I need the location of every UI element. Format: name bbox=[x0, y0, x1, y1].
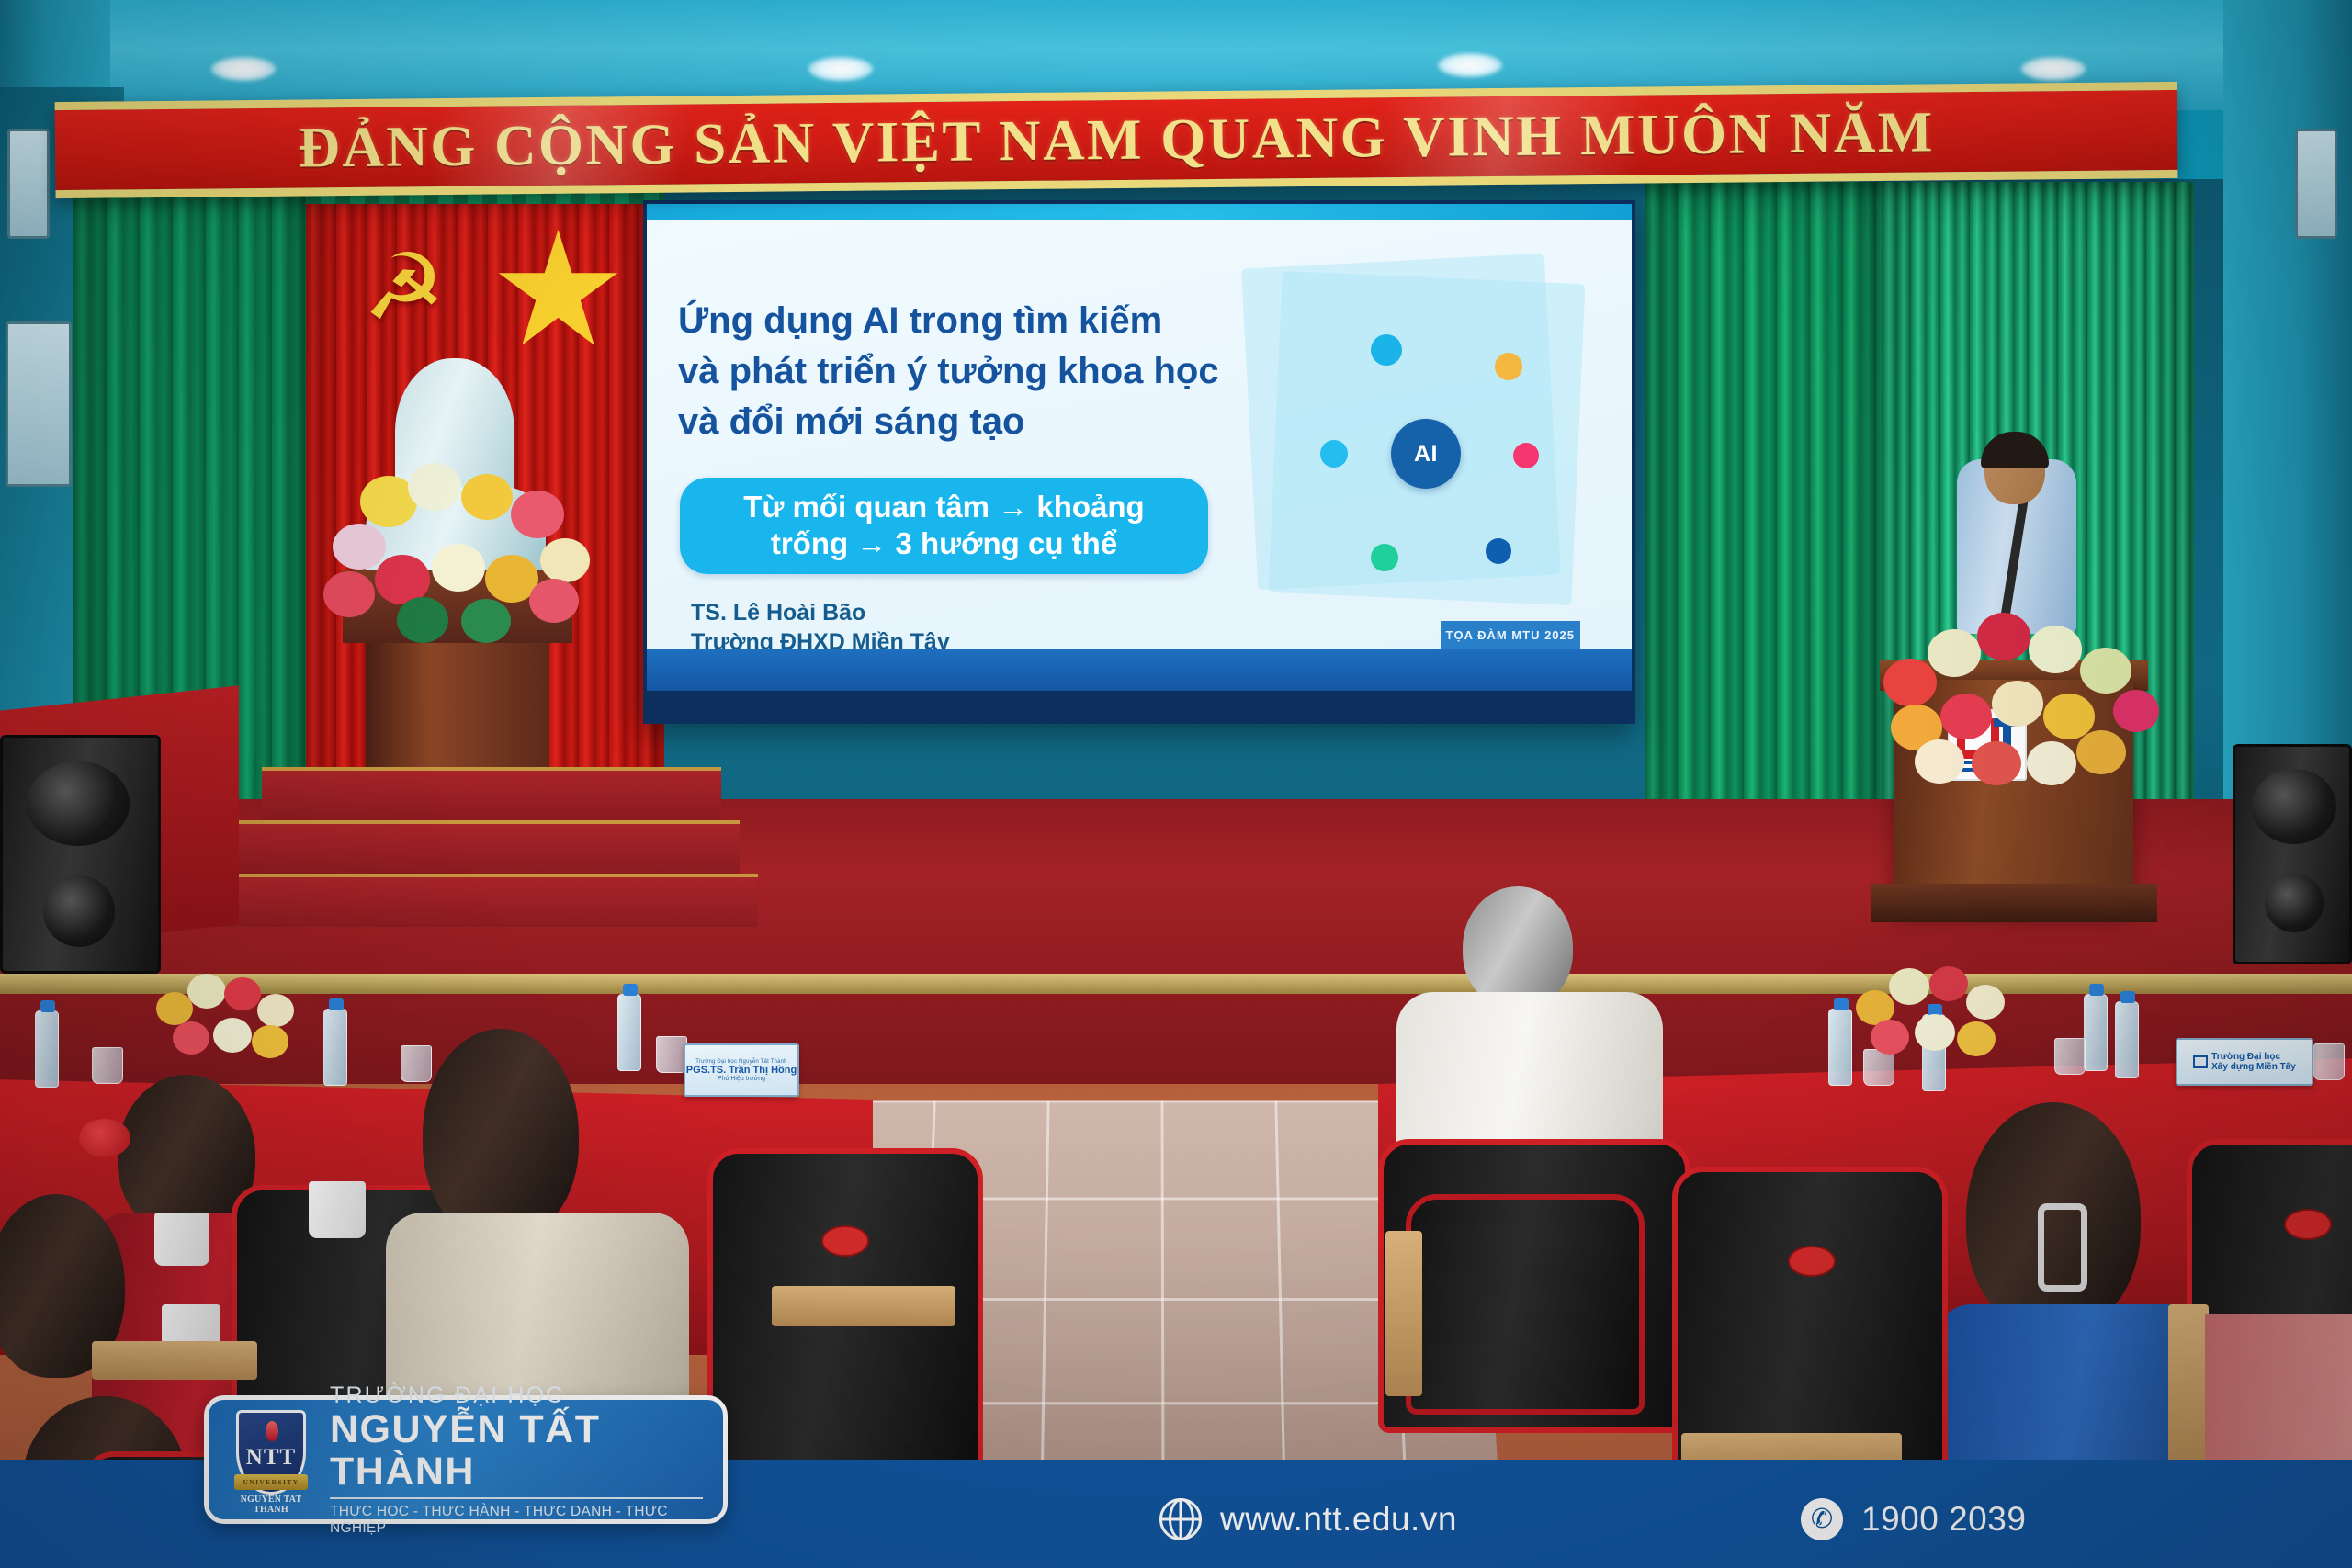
ai-network-graphic: AI bbox=[1233, 252, 1600, 619]
slide-pill-line-1: Từ mối quan tâm → khoảng bbox=[689, 489, 1199, 525]
ai-dot-blue bbox=[1486, 538, 1511, 564]
nameplate-org-line-1: Trường Đại học bbox=[2211, 1052, 2296, 1062]
ntt-shield-icon: NTT UNIVERSITY NGUYEN TAT THANH bbox=[229, 1408, 313, 1511]
pa-speaker-right bbox=[2233, 744, 2352, 964]
chair-armrest bbox=[2168, 1304, 2209, 1470]
table-flowers-right bbox=[1856, 964, 2021, 1075]
phone-icon: ✆ bbox=[1801, 1498, 1843, 1540]
flower-arrangement-podium bbox=[1883, 602, 2159, 785]
audience-chair bbox=[1406, 1194, 1645, 1415]
brand-line-1: TRƯỜNG ĐẠI HỌC bbox=[330, 1382, 703, 1409]
hammer-sickle-icon: ☭ bbox=[354, 237, 455, 338]
slide-highlight-pill: Từ mối quan tâm → khoảng trống → 3 hướng… bbox=[680, 478, 1208, 574]
drinking-glass bbox=[2313, 1043, 2345, 1080]
shield-letters: NTT bbox=[229, 1445, 313, 1471]
nameplate-tran-thi-hong: Trường Đại học Nguyễn Tất Thành PGS.TS. … bbox=[684, 1043, 799, 1097]
slide-bottom-bar bbox=[647, 649, 1632, 691]
drinking-glass bbox=[92, 1047, 123, 1084]
water-bottle bbox=[2084, 994, 2108, 1071]
hair-clip bbox=[2038, 1203, 2087, 1292]
flower-arrangement-bust bbox=[323, 459, 599, 643]
chair-armrest bbox=[92, 1341, 257, 1380]
conference-hall-photo: ☭ Ứng dụng AI trong tìm kiếm và phát tri… bbox=[0, 0, 2352, 1568]
nameplate-mtu: Trường Đại học Xây dựng Miền Tây bbox=[2176, 1038, 2313, 1086]
ceiling-light bbox=[808, 57, 873, 81]
nameplate-role: Phó Hiệu trưởng bbox=[718, 1076, 765, 1082]
ceiling-light bbox=[211, 57, 276, 81]
hair-accessory bbox=[79, 1119, 130, 1157]
footer-hotline[interactable]: ✆ 1900 2039 bbox=[1801, 1498, 2026, 1540]
drinking-glass bbox=[2054, 1038, 2086, 1075]
wall-vent bbox=[2295, 129, 2337, 239]
ai-dot-cyan-top bbox=[1371, 334, 1402, 366]
drinking-glass bbox=[401, 1045, 432, 1082]
brand-divider bbox=[330, 1497, 703, 1499]
audience-head bbox=[423, 1029, 579, 1240]
paper-cup bbox=[309, 1181, 366, 1238]
slogan-banner: ĐẢNG CỘNG SẢN VIỆT NAM QUANG VINH MUÔN N… bbox=[55, 82, 2178, 198]
slogan-banner-text: ĐẢNG CỘNG SẢN VIỆT NAM QUANG VINH MUÔN N… bbox=[55, 90, 2178, 190]
university-logo-text: TRƯỜNG ĐẠI HỌC NGUYỄN TẤT THÀNH THỰC HỌC… bbox=[330, 1382, 703, 1536]
ai-dot-orange bbox=[1495, 353, 1522, 380]
chair-armrest bbox=[1385, 1231, 1422, 1396]
ceiling-light bbox=[2021, 57, 2086, 81]
water-bottle bbox=[35, 1010, 59, 1088]
ai-dot-green bbox=[1371, 544, 1398, 571]
ceiling-light bbox=[1438, 53, 1502, 77]
slide-title-line-3: và đổi mới sáng tạo bbox=[678, 397, 1248, 447]
water-bottle bbox=[323, 1009, 347, 1086]
mtu-mark-icon bbox=[2193, 1055, 2208, 1068]
slide-top-accent-bar bbox=[647, 204, 1632, 220]
brand-line-2: NGUYỄN TẤT THÀNH bbox=[330, 1409, 703, 1492]
hotline-text: 1900 2039 bbox=[1861, 1500, 2026, 1539]
table-flowers-left bbox=[156, 972, 312, 1073]
university-logo-card: NTT UNIVERSITY NGUYEN TAT THANH TRƯỜNG Đ… bbox=[204, 1395, 728, 1524]
website-text: www.ntt.edu.vn bbox=[1220, 1500, 1457, 1539]
globe-icon bbox=[1159, 1498, 1202, 1540]
drinking-glass bbox=[656, 1036, 687, 1073]
slide-pill-line-2: trống → 3 hướng cụ thể bbox=[689, 525, 1199, 562]
footer-website[interactable]: www.ntt.edu.vn bbox=[1159, 1498, 1457, 1540]
podium-base bbox=[1871, 884, 2157, 922]
pa-speaker-left bbox=[0, 735, 161, 974]
slide-title-line-2: và phát triển ý tưởng khoa học bbox=[678, 346, 1248, 397]
brand-tagline: THỰC HỌC - THỰC HÀNH - THỰC DANH - THỰC … bbox=[330, 1504, 703, 1537]
ai-core-badge: AI bbox=[1391, 419, 1461, 489]
ai-dot-pink bbox=[1513, 443, 1539, 468]
slide-footer-tag: TỌA ĐÀM MTU 2025 bbox=[1441, 621, 1580, 649]
slide-title-line-1: Ứng dụng AI trong tìm kiếm bbox=[678, 296, 1248, 346]
nameplate-org-line-2: Xây dựng Miền Tây bbox=[2211, 1062, 2296, 1072]
water-bottle bbox=[2115, 1001, 2139, 1078]
ai-dot-cyan-left bbox=[1320, 440, 1348, 468]
presentation-slide: Ứng dụng AI trong tìm kiếm và phát triển… bbox=[647, 204, 1632, 691]
nameplate-name: PGS.TS. Trần Thị Hồng bbox=[686, 1065, 797, 1076]
water-bottle bbox=[1828, 1009, 1852, 1086]
wall-vent bbox=[6, 321, 72, 487]
audience-head bbox=[1463, 886, 1573, 1008]
chair-armrest bbox=[772, 1286, 955, 1326]
stage-steps bbox=[262, 767, 721, 923]
shield-ribbon-text: UNIVERSITY bbox=[234, 1474, 308, 1490]
speaker-name: TS. Lê Hoài Bão bbox=[691, 599, 1224, 628]
slide-title: Ứng dụng AI trong tìm kiếm và phát triển… bbox=[678, 296, 1248, 448]
shield-caption: NGUYEN TAT THANH bbox=[225, 1495, 317, 1515]
water-bottle bbox=[617, 994, 641, 1071]
paper-cup bbox=[154, 1213, 209, 1266]
wall-vent bbox=[7, 129, 50, 239]
